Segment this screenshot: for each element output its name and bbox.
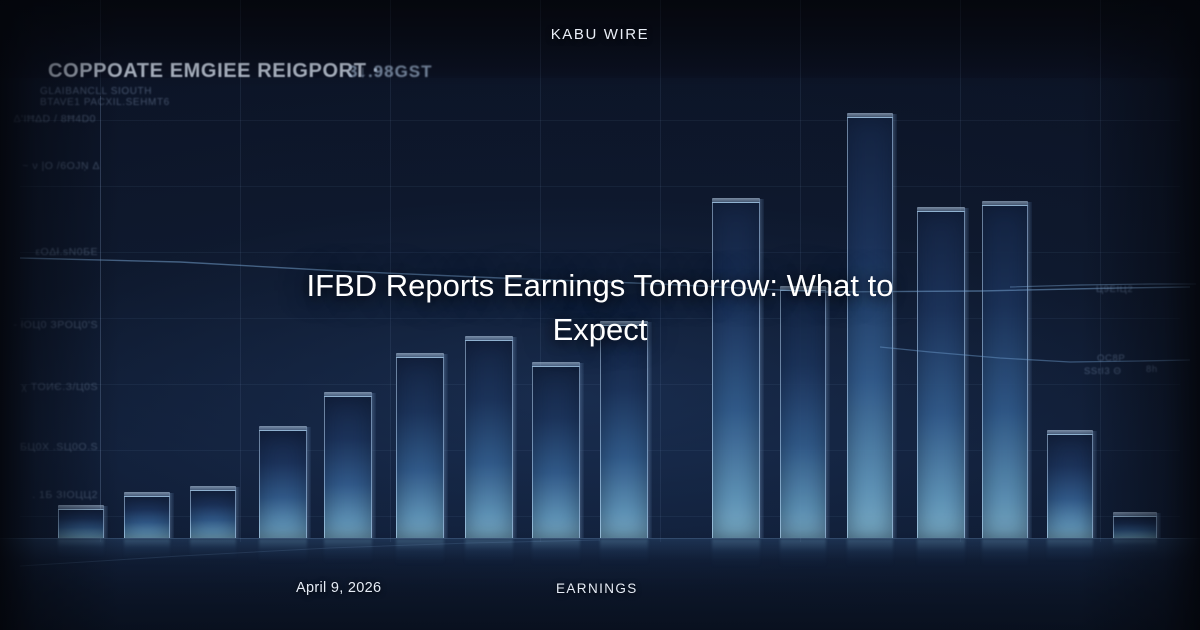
publish-date: April 9, 2026 xyxy=(296,580,381,596)
right-series-label: Ц9EІЦ2 xyxy=(1096,284,1133,295)
y-axis-tick: Δ'IĦΔD / 8Ħ4D0 xyxy=(8,113,96,125)
brand-name: KABU WIRE xyxy=(0,26,1200,43)
category-tag: EARNINGS xyxy=(556,581,638,596)
overlay-chart-subtitle-1: GLAIBANCLL SIOUTH xyxy=(40,86,152,97)
social-card: COPPOATE EMGIEE REIGPORT · 3↓.98GST GLAI… xyxy=(0,0,1200,630)
right-series-label: 8һ xyxy=(1146,364,1158,375)
overlay-chart-stat: 3↓.98GST xyxy=(348,62,433,82)
y-axis-tick: εOΔł.ѕN0БE xyxy=(10,246,98,258)
right-series-label: ЅStІ3 Θ xyxy=(1084,366,1121,377)
right-series-label: OC8Р xyxy=(1097,353,1125,364)
y-axis-tick: χ TOИЄ.З/Ц0Ѕ xyxy=(10,381,98,393)
y-axis-tick: - łOЦ0 ЗРOЦ0'S xyxy=(8,319,98,331)
overlay-chart-subtitle-2: BTAVE1 PACXIL.SEHMT6 xyxy=(40,97,170,108)
y-axis-tick: ~ ν |O /6OJŅ Δ xyxy=(14,160,100,172)
overlay-chart-title: COPPOATE EMGIEE REIGPORT · xyxy=(48,60,380,83)
page-title: IFBD Reports Earnings Tomorrow: What to … xyxy=(270,264,930,352)
y-axis-tick: . 1Б ЗІOЦЦ2 xyxy=(14,489,98,501)
y-axis-tick: БЦ0Х .SЦ0O.Ѕ xyxy=(12,441,98,453)
